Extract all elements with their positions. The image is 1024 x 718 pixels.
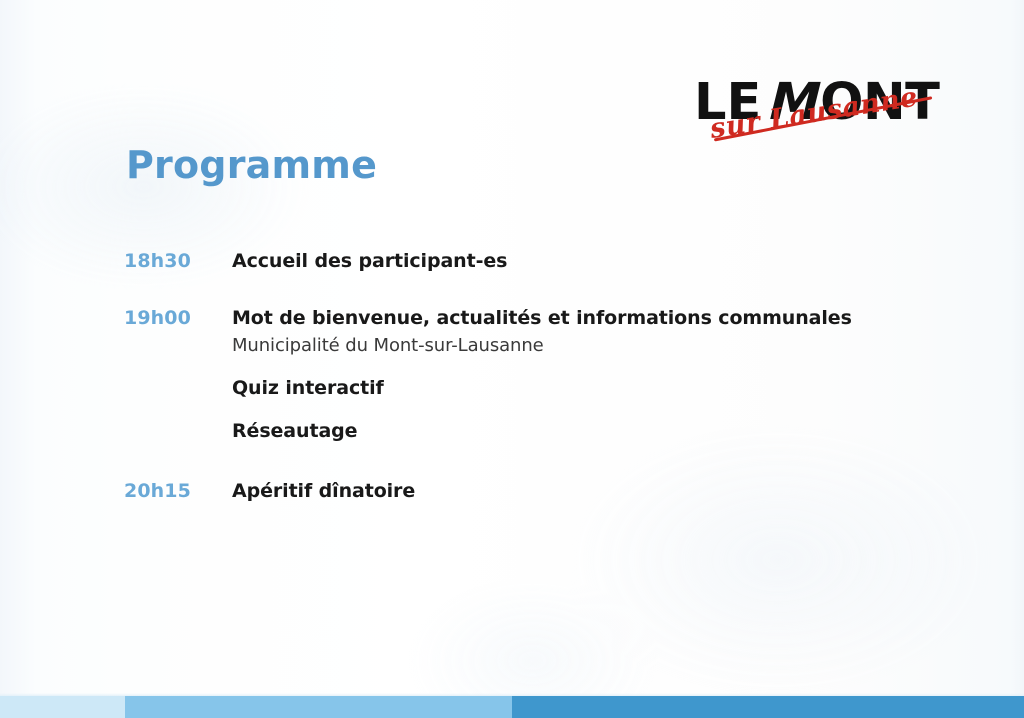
programme-row-time: 20h15	[124, 478, 230, 504]
programme-list: 18h30 Accueil des participant-es 19h00 M…	[124, 248, 924, 504]
footer-segment-mid	[125, 696, 512, 718]
programme-row-body: Réseautage	[230, 418, 924, 444]
programme-row-label: Quiz interactif	[232, 375, 924, 401]
programme-row: Réseautage	[124, 418, 924, 444]
programme-row-body: Accueil des participant-es	[230, 248, 924, 274]
programme-row: 19h00 Mot de bienvenue, actualités et in…	[124, 305, 924, 358]
page-title: Programme	[126, 142, 377, 188]
programme-row-time: 18h30	[124, 248, 230, 274]
programme-row-body: Mot de bienvenue, actualités et informat…	[230, 305, 924, 358]
programme-row: 18h30 Accueil des participant-es	[124, 248, 924, 274]
programme-row-label: Accueil des participant-es	[232, 248, 924, 274]
footer-color-bar	[0, 696, 1024, 718]
programme-row-label: Réseautage	[232, 418, 924, 444]
programme-row-body: Apéritif dînatoire	[230, 478, 924, 504]
programme-row: 20h15 Apéritif dînatoire	[124, 478, 924, 504]
programme-row: Quiz interactif	[124, 375, 924, 401]
programme-row-subtitle: Municipalité du Mont-sur-Lausanne	[232, 333, 924, 358]
footer-segment-pale	[0, 696, 125, 718]
programme-row-label: Mot de bienvenue, actualités et informat…	[232, 305, 924, 331]
le-mont-sur-lausanne-logo: LEMONT sur Lausanne	[694, 74, 938, 170]
programme-row-body: Quiz interactif	[230, 375, 924, 401]
footer-segment-strong	[512, 696, 1024, 718]
programme-row-label: Apéritif dînatoire	[232, 478, 924, 504]
scanned-flyer-page: LEMONT sur Lausanne Programme 18h30 Accu…	[0, 0, 1024, 718]
programme-row-time: 19h00	[124, 305, 230, 331]
